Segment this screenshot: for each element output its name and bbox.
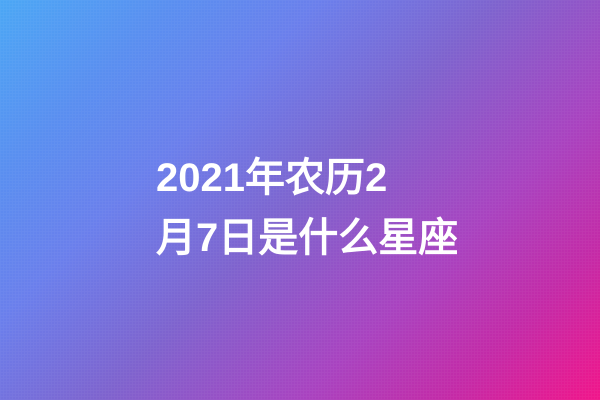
gradient-banner: 2021年农历2 月7日是什么星座 xyxy=(0,0,600,400)
banner-title-line-2: 月7日是什么星座 xyxy=(156,208,456,268)
banner-title-line-1: 2021年农历2 xyxy=(156,148,456,208)
banner-title: 2021年农历2 月7日是什么星座 xyxy=(156,148,456,268)
